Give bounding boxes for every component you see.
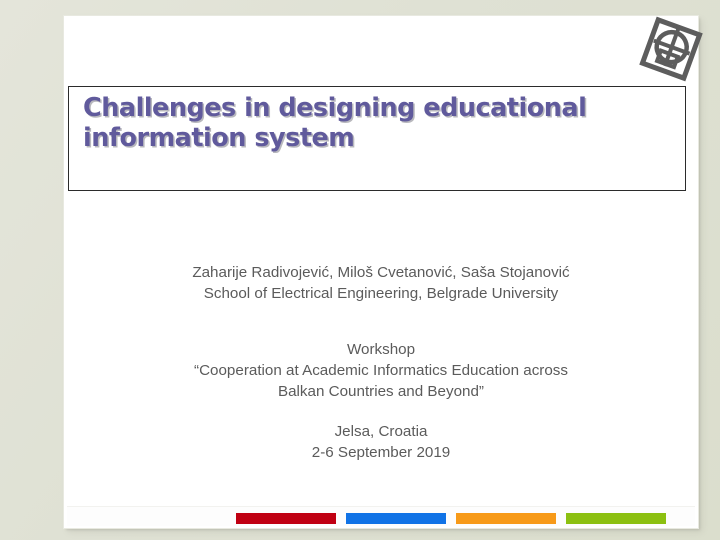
- authors-affiliation-text: Zaharije Radivojević, Miloš Cvetanović, …: [67, 262, 695, 304]
- bar-blue: [346, 513, 446, 524]
- bar-green: [566, 513, 666, 524]
- bar-red: [236, 513, 336, 524]
- title-box: Challenges in designing educational info…: [68, 86, 686, 191]
- footer-color-bars: [236, 513, 666, 524]
- page-title: Challenges in designing educational info…: [83, 93, 667, 153]
- workshop-title-text: Workshop “Cooperation at Academic Inform…: [67, 339, 695, 402]
- venue-date-text: Jelsa, Croatia 2-6 September 2019: [67, 421, 695, 463]
- bar-orange: [456, 513, 556, 524]
- presentation-stage: Challenges in designing educational info…: [0, 0, 720, 540]
- slide-canvas: Challenges in designing educational info…: [67, 19, 695, 525]
